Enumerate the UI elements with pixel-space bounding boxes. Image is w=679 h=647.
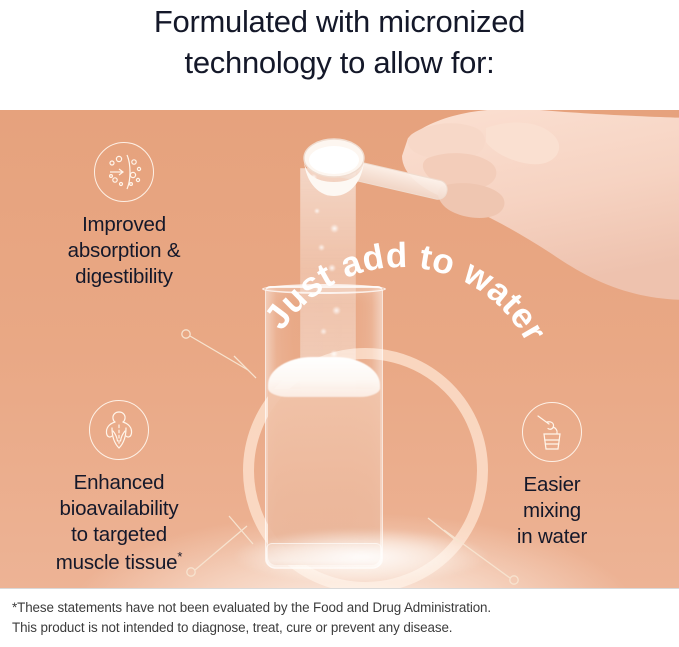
disclaimer-text: *These statements have not been evaluate… [12, 598, 667, 637]
curved-caption-text: Just add to water [257, 236, 554, 348]
particles-through-membrane-icon [94, 142, 154, 202]
feature-absorption: Improved absorption & digestibility [18, 142, 230, 291]
feature-bioavailability-label: Enhanced bioavailability to targeted mus… [8, 470, 230, 576]
footer-disclaimer: *These statements have not been evaluate… [0, 588, 679, 647]
hero-photo: Just add to water [0, 110, 679, 588]
curved-caption-label: Just add to water [257, 236, 554, 348]
header-band: Formulated with micronized technology to… [0, 0, 679, 110]
feature-mixing-label: Easier mixing in water [472, 472, 632, 551]
product-infographic: Formulated with micronized technology to… [0, 0, 679, 647]
leader-line-absorption [180, 322, 290, 407]
muscle-torso-icon [89, 400, 149, 460]
feature-bioavailability: Enhanced bioavailability to targeted mus… [8, 400, 230, 576]
footnote-marker: * [177, 549, 182, 564]
feature-mixing: Easier mixing in water [472, 402, 632, 551]
page-title: Formulated with micronized technology to… [154, 2, 525, 84]
scoop-pouring-into-cup-icon [522, 402, 582, 462]
feature-absorption-label: Improved absorption & digestibility [18, 212, 230, 291]
